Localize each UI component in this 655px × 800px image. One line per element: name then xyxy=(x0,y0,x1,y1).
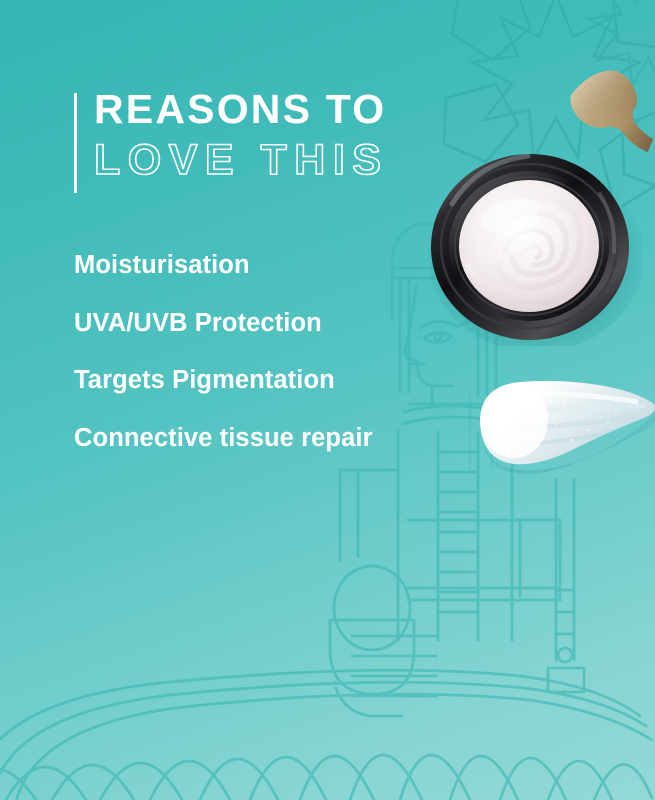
benefit-item: UVA/UVB Protection xyxy=(74,308,373,338)
heading-accent-rule xyxy=(74,93,77,193)
heading-block: REASONS TO LOVE THIS xyxy=(74,86,388,186)
heading-line-2: LOVE THIS xyxy=(94,134,388,186)
benefit-item: Connective tissue repair xyxy=(74,423,373,453)
benefit-list: Moisturisation UVA/UVB Protection Target… xyxy=(74,250,373,453)
heading-line-1: REASONS TO xyxy=(94,86,388,132)
benefit-item: Moisturisation xyxy=(74,250,373,280)
copy-block: REASONS TO LOVE THIS Moisturisation UVA/… xyxy=(0,0,420,800)
promo-poster: REASONS TO LOVE THIS Moisturisation UVA/… xyxy=(0,0,655,800)
benefit-item: Targets Pigmentation xyxy=(74,365,373,395)
